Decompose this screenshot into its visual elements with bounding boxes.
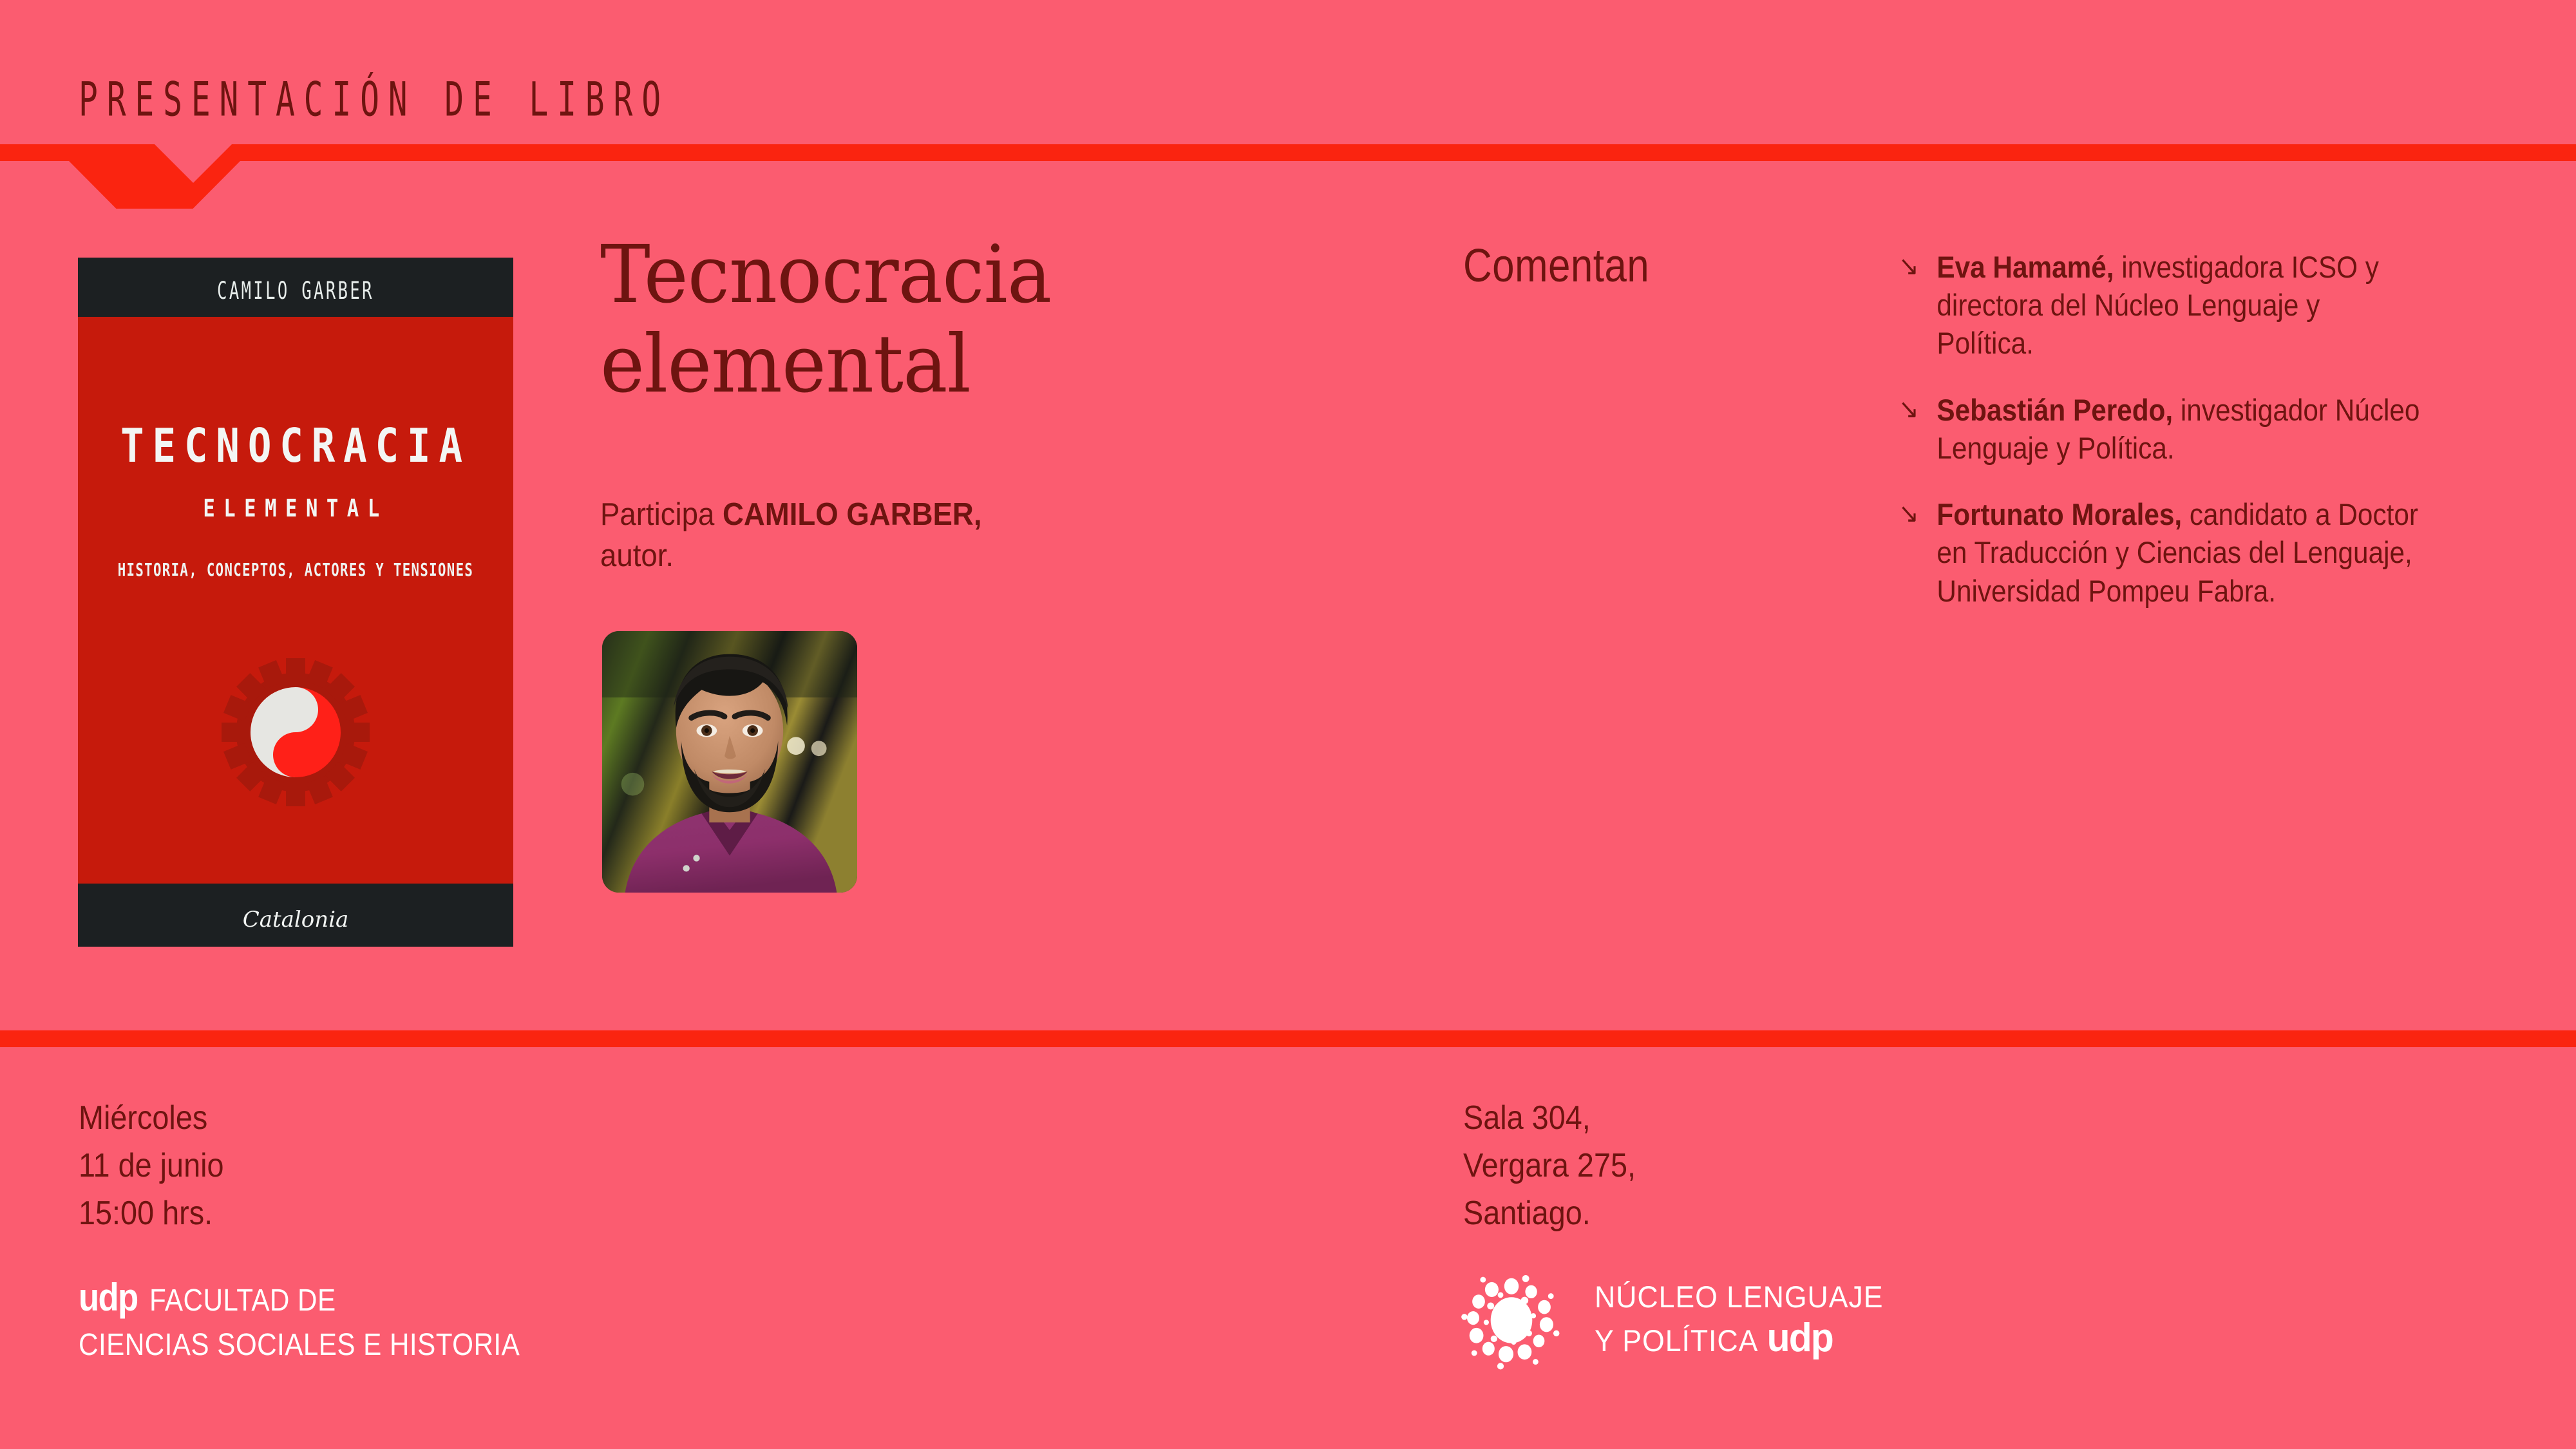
event-datetime: Miércoles 11 de junio 15:00 hrs. <box>79 1095 224 1237</box>
comentan-label: Comentan <box>1463 240 1649 292</box>
nucleo-name-line-2: Y POLÍTICA <box>1595 1323 1758 1358</box>
panelist-list: ↘ Eva Hamamé, investigadora ICSO y direc… <box>1899 248 2478 638</box>
panelist-item: ↘ Sebastián Peredo, investigador Núcleo … <box>1899 391 2420 467</box>
gear-icon <box>215 652 376 813</box>
event-location: Sala 304, Vergara 275, Santiago. <box>1463 1095 1636 1237</box>
udp-wordmark: udp <box>79 1278 137 1317</box>
nucleo-name-line-1: NÚCLEO LENGUAJE <box>1595 1279 1883 1314</box>
book-cover-tagline: HISTORIA, CONCEPTOS, ACTORES Y TENSIONES <box>100 560 491 580</box>
nucleo-sunburst-icon <box>1457 1265 1566 1375</box>
logo-udp-faculty: udp FACULTAD DE CIENCIAS SOCIALES E HIST… <box>79 1278 580 1361</box>
event-poster: PRESENTACIÓN DE LIBRO CAMILO GARBER TECN… <box>0 0 2576 1449</box>
participa-prefix: Participa <box>600 497 723 532</box>
panelist-name: Eva Hamamé, <box>1937 250 2114 284</box>
book-cover: CAMILO GARBER TECNOCRACIA ELEMENTAL HIST… <box>78 258 513 947</box>
panelist-item: ↘ Eva Hamamé, investigadora ICSO y direc… <box>1899 248 2420 363</box>
event-day: Miércoles <box>79 1095 224 1142</box>
arrow-down-right-icon: ↘ <box>1899 497 1919 531</box>
logo-nucleo-lenguaje-politica: NÚCLEO LENGUAJE Y POLÍTICA udp <box>1457 1265 1899 1375</box>
event-street: Vergara 275, <box>1463 1142 1636 1190</box>
book-cover-author: CAMILO GARBER <box>111 277 481 305</box>
participa-role: autor. <box>600 538 674 573</box>
bottom-divider-bar <box>0 1030 2576 1047</box>
event-city: Santiago. <box>1463 1190 1636 1238</box>
nucleo-udp-wordmark: udp <box>1767 1314 1833 1361</box>
page-kicker: PRESENTACIÓN DE LIBRO <box>79 72 670 127</box>
page-title-line-2: elemental <box>600 320 1339 410</box>
event-time: 15:00 hrs. <box>79 1190 224 1238</box>
book-cover-subtitle: ELEMENTAL <box>100 495 491 523</box>
faculty-name-line-1: FACULTAD DE <box>149 1285 336 1316</box>
faculty-name-line-2: CIENCIAS SOCIALES E HISTORIA <box>79 1330 520 1361</box>
page-title: Tecnocracia elemental <box>600 231 1339 410</box>
page-title-line-1: Tecnocracia <box>600 231 1339 320</box>
speaker-portrait <box>602 631 857 893</box>
panelist-name: Sebastián Peredo, <box>1937 393 2173 427</box>
panelist-name: Fortunato Morales, <box>1937 497 2182 531</box>
participant-line: Participa CAMILO GARBER, autor. <box>600 495 1199 576</box>
book-cover-title: TECNOCRACIA <box>95 419 496 473</box>
event-room: Sala 304, <box>1463 1095 1636 1142</box>
top-divider-bar <box>0 144 2576 209</box>
panelist-item: ↘ Fortunato Morales, candidato a Doctor … <box>1899 495 2420 610</box>
event-date: 11 de junio <box>79 1142 224 1190</box>
participa-name: CAMILO GARBER, <box>723 497 982 532</box>
book-cover-imprint: Catalonia <box>78 907 513 933</box>
arrow-down-right-icon: ↘ <box>1899 392 1919 426</box>
arrow-down-right-icon: ↘ <box>1899 249 1919 283</box>
